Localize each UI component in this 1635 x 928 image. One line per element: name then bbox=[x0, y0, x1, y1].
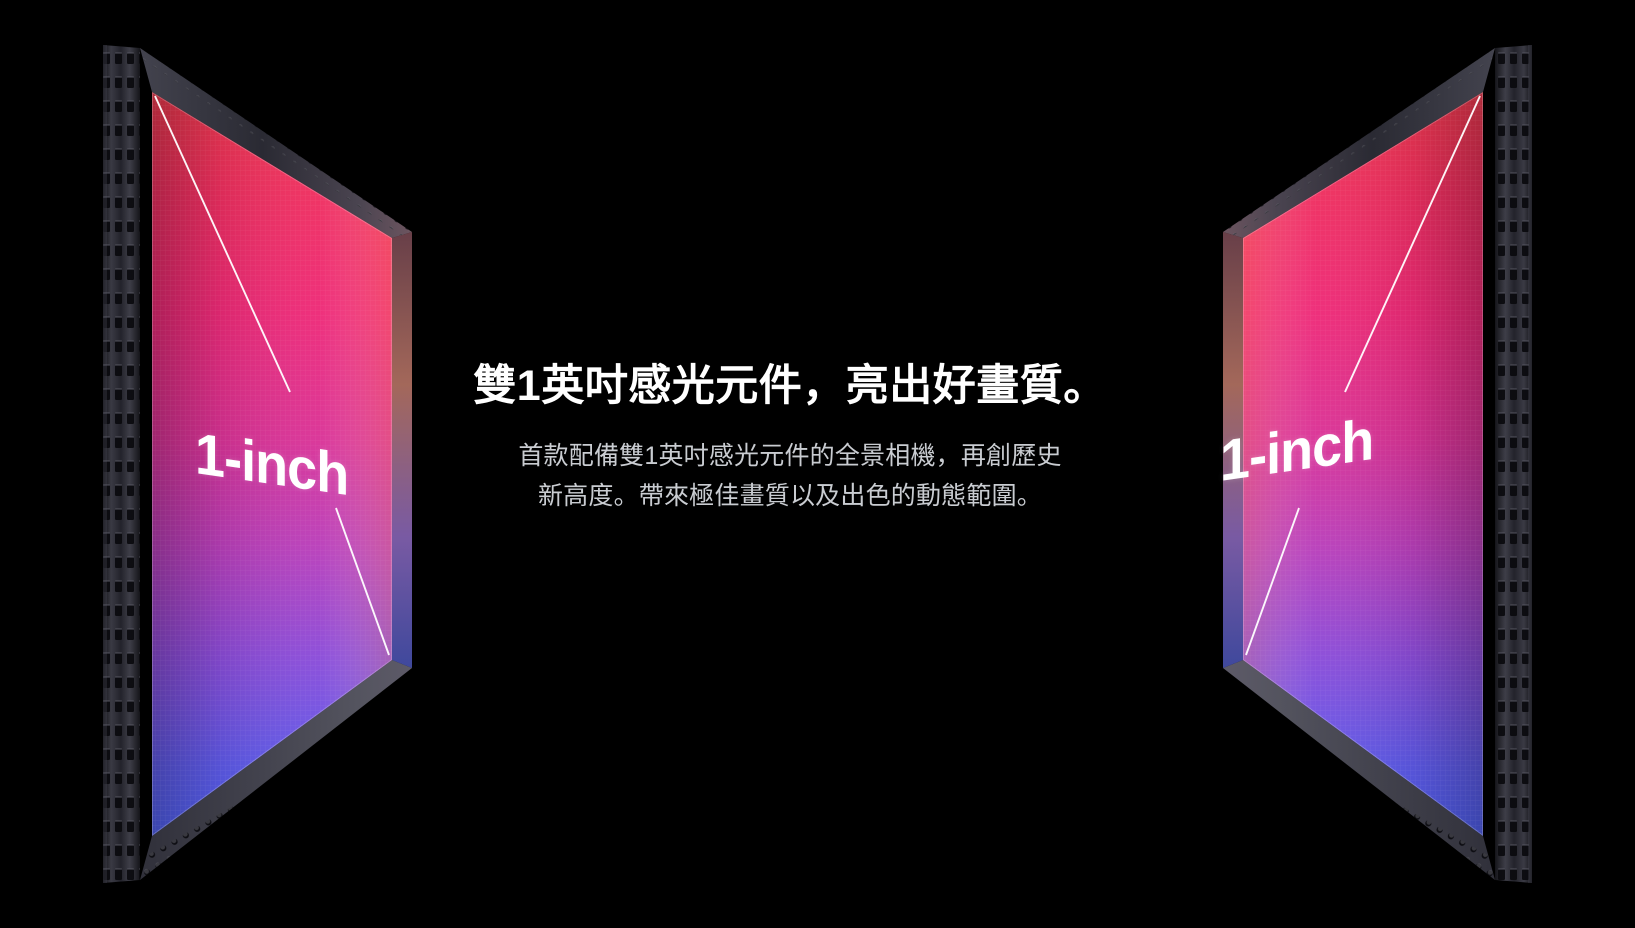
page-title: 雙1英吋感光元件，亮出好畫質。 bbox=[430, 360, 1150, 414]
description-line-2: 新高度。帶來極佳畫質以及出色的動態範圍。 bbox=[444, 476, 1136, 517]
sensor-image-right: 1-inch bbox=[1195, 0, 1595, 928]
copy-block: 雙1英吋感光元件，亮出好畫質。 首款配備雙1英吋感光元件的全景相機，再創歷史 新… bbox=[430, 360, 1150, 517]
sensor-image-left: 1-inch bbox=[40, 0, 440, 928]
sensor-notch-teeth-side bbox=[103, 45, 140, 883]
sensor-glass-rim bbox=[392, 232, 412, 668]
sensor-notch-teeth-side bbox=[1495, 45, 1532, 883]
substrate-specular bbox=[103, 45, 107, 883]
description-line-1: 首款配備雙1英吋感光元件的全景相機，再創歷史 bbox=[444, 436, 1136, 477]
page-description: 首款配備雙1英吋感光元件的全景相機，再創歷史 新高度。帶來極佳畫質以及出色的動態… bbox=[430, 436, 1150, 517]
hero-banner: 1-inch bbox=[0, 0, 1635, 928]
substrate-specular bbox=[1528, 45, 1532, 883]
